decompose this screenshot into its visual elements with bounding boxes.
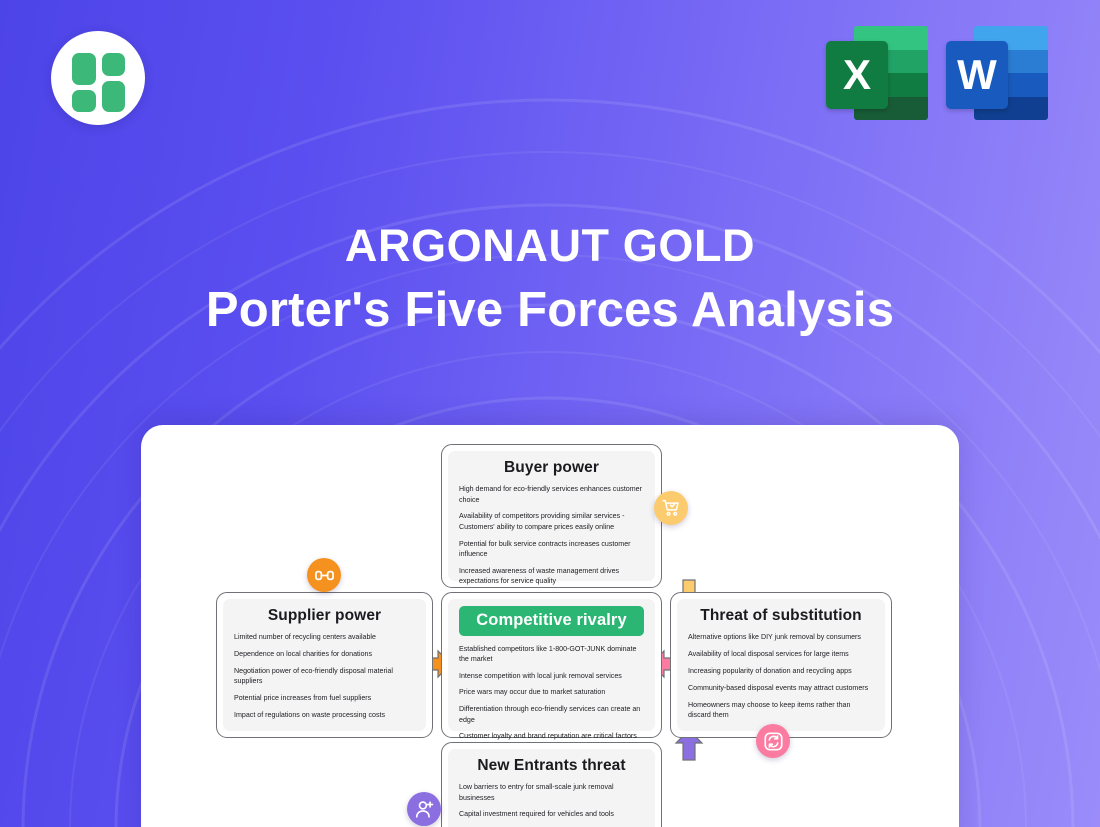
word-letter: W [946,41,1008,109]
list-item: Low barriers to entry for small-scale ju… [459,782,644,803]
company-name: ARGONAUT GOLD [0,218,1100,274]
document-card: Buyer power High demand for eco-friendly… [141,425,959,827]
list-item: Capital investment required for vehicles… [459,809,644,819]
logo-tile-1 [72,53,96,85]
grid-dashboard-icon [51,31,145,125]
force-box-items: Established competitors like 1-800-GOT-J… [459,644,644,742]
list-item: Negotiation power of eco-friendly dispos… [234,666,415,687]
shopping-cart-icon[interactable] [654,491,688,525]
page-title: Porter's Five Forces Analysis [0,279,1100,343]
list-item: Alternative options like DIY junk remova… [688,632,874,642]
force-box-threat-of-substitution[interactable]: Threat of substitution Alternative optio… [670,592,892,738]
force-box-title: Threat of substitution [688,606,874,625]
porters-five-forces-diagram: Buyer power High demand for eco-friendly… [141,425,959,827]
list-item: Intense competition with local junk remo… [459,671,644,681]
list-item: Limited number of recycling centers avai… [234,632,415,642]
slide-canvas: X W ARGONAUT GOLD Porter's Five Forces A… [0,0,1100,827]
force-box-items: Low barriers to entry for small-scale ju… [459,782,644,827]
list-item: Homeowners may choose to keep items rath… [688,700,874,721]
force-box-title: Competitive rivalry [459,606,644,636]
force-box-new-entrants-threat[interactable]: New Entrants threat Low barriers to entr… [441,742,662,827]
force-box-title: Supplier power [234,606,415,625]
list-item: Established competitors like 1-800-GOT-J… [459,644,644,665]
list-item: High demand for eco-friendly services en… [459,484,644,505]
force-box-title: Buyer power [459,458,644,477]
list-item: Dependence on local charities for donati… [234,649,415,659]
list-item: Customer loyalty and brand reputation ar… [459,731,644,741]
force-box-items: High demand for eco-friendly services en… [459,484,644,586]
headline-block: ARGONAUT GOLD Porter's Five Forces Analy… [0,218,1100,343]
force-box-items: Limited number of recycling centers avai… [234,632,415,720]
force-box-title: New Entrants threat [459,756,644,775]
list-item: Potential price increases from fuel supp… [234,693,415,703]
excel-icon[interactable]: X [826,26,928,124]
word-icon[interactable]: W [946,26,1048,124]
force-box-supplier-power[interactable]: Supplier power Limited number of recycli… [216,592,433,738]
link-chain-icon[interactable] [307,558,341,592]
list-item: Impact of regulations on waste processin… [234,710,415,720]
list-item: Price wars may occur due to market satur… [459,687,644,697]
refresh-sync-icon[interactable] [756,724,790,758]
logo-tile-3 [72,90,96,112]
list-item: Increasing popularity of donation and re… [688,666,874,676]
list-item: Increased awareness of waste management … [459,566,644,587]
office-app-icons: X W [826,26,1048,124]
list-item: Differentiation through eco-friendly ser… [459,704,644,725]
list-item: Availability of local disposal services … [688,649,874,659]
list-item: Potential for bulk service contracts inc… [459,539,644,560]
force-box-competitive-rivalry[interactable]: Competitive rivalry Established competit… [441,592,662,738]
add-user-icon[interactable] [407,792,441,826]
force-box-items: Alternative options like DIY junk remova… [688,632,874,720]
list-item: Community-based disposal events may attr… [688,683,874,693]
logo-tile-2 [102,53,125,76]
logo-tile-4 [102,81,125,112]
list-item: Availability of competitors providing si… [459,511,644,532]
force-box-buyer-power[interactable]: Buyer power High demand for eco-friendly… [441,444,662,588]
excel-letter: X [826,41,888,109]
